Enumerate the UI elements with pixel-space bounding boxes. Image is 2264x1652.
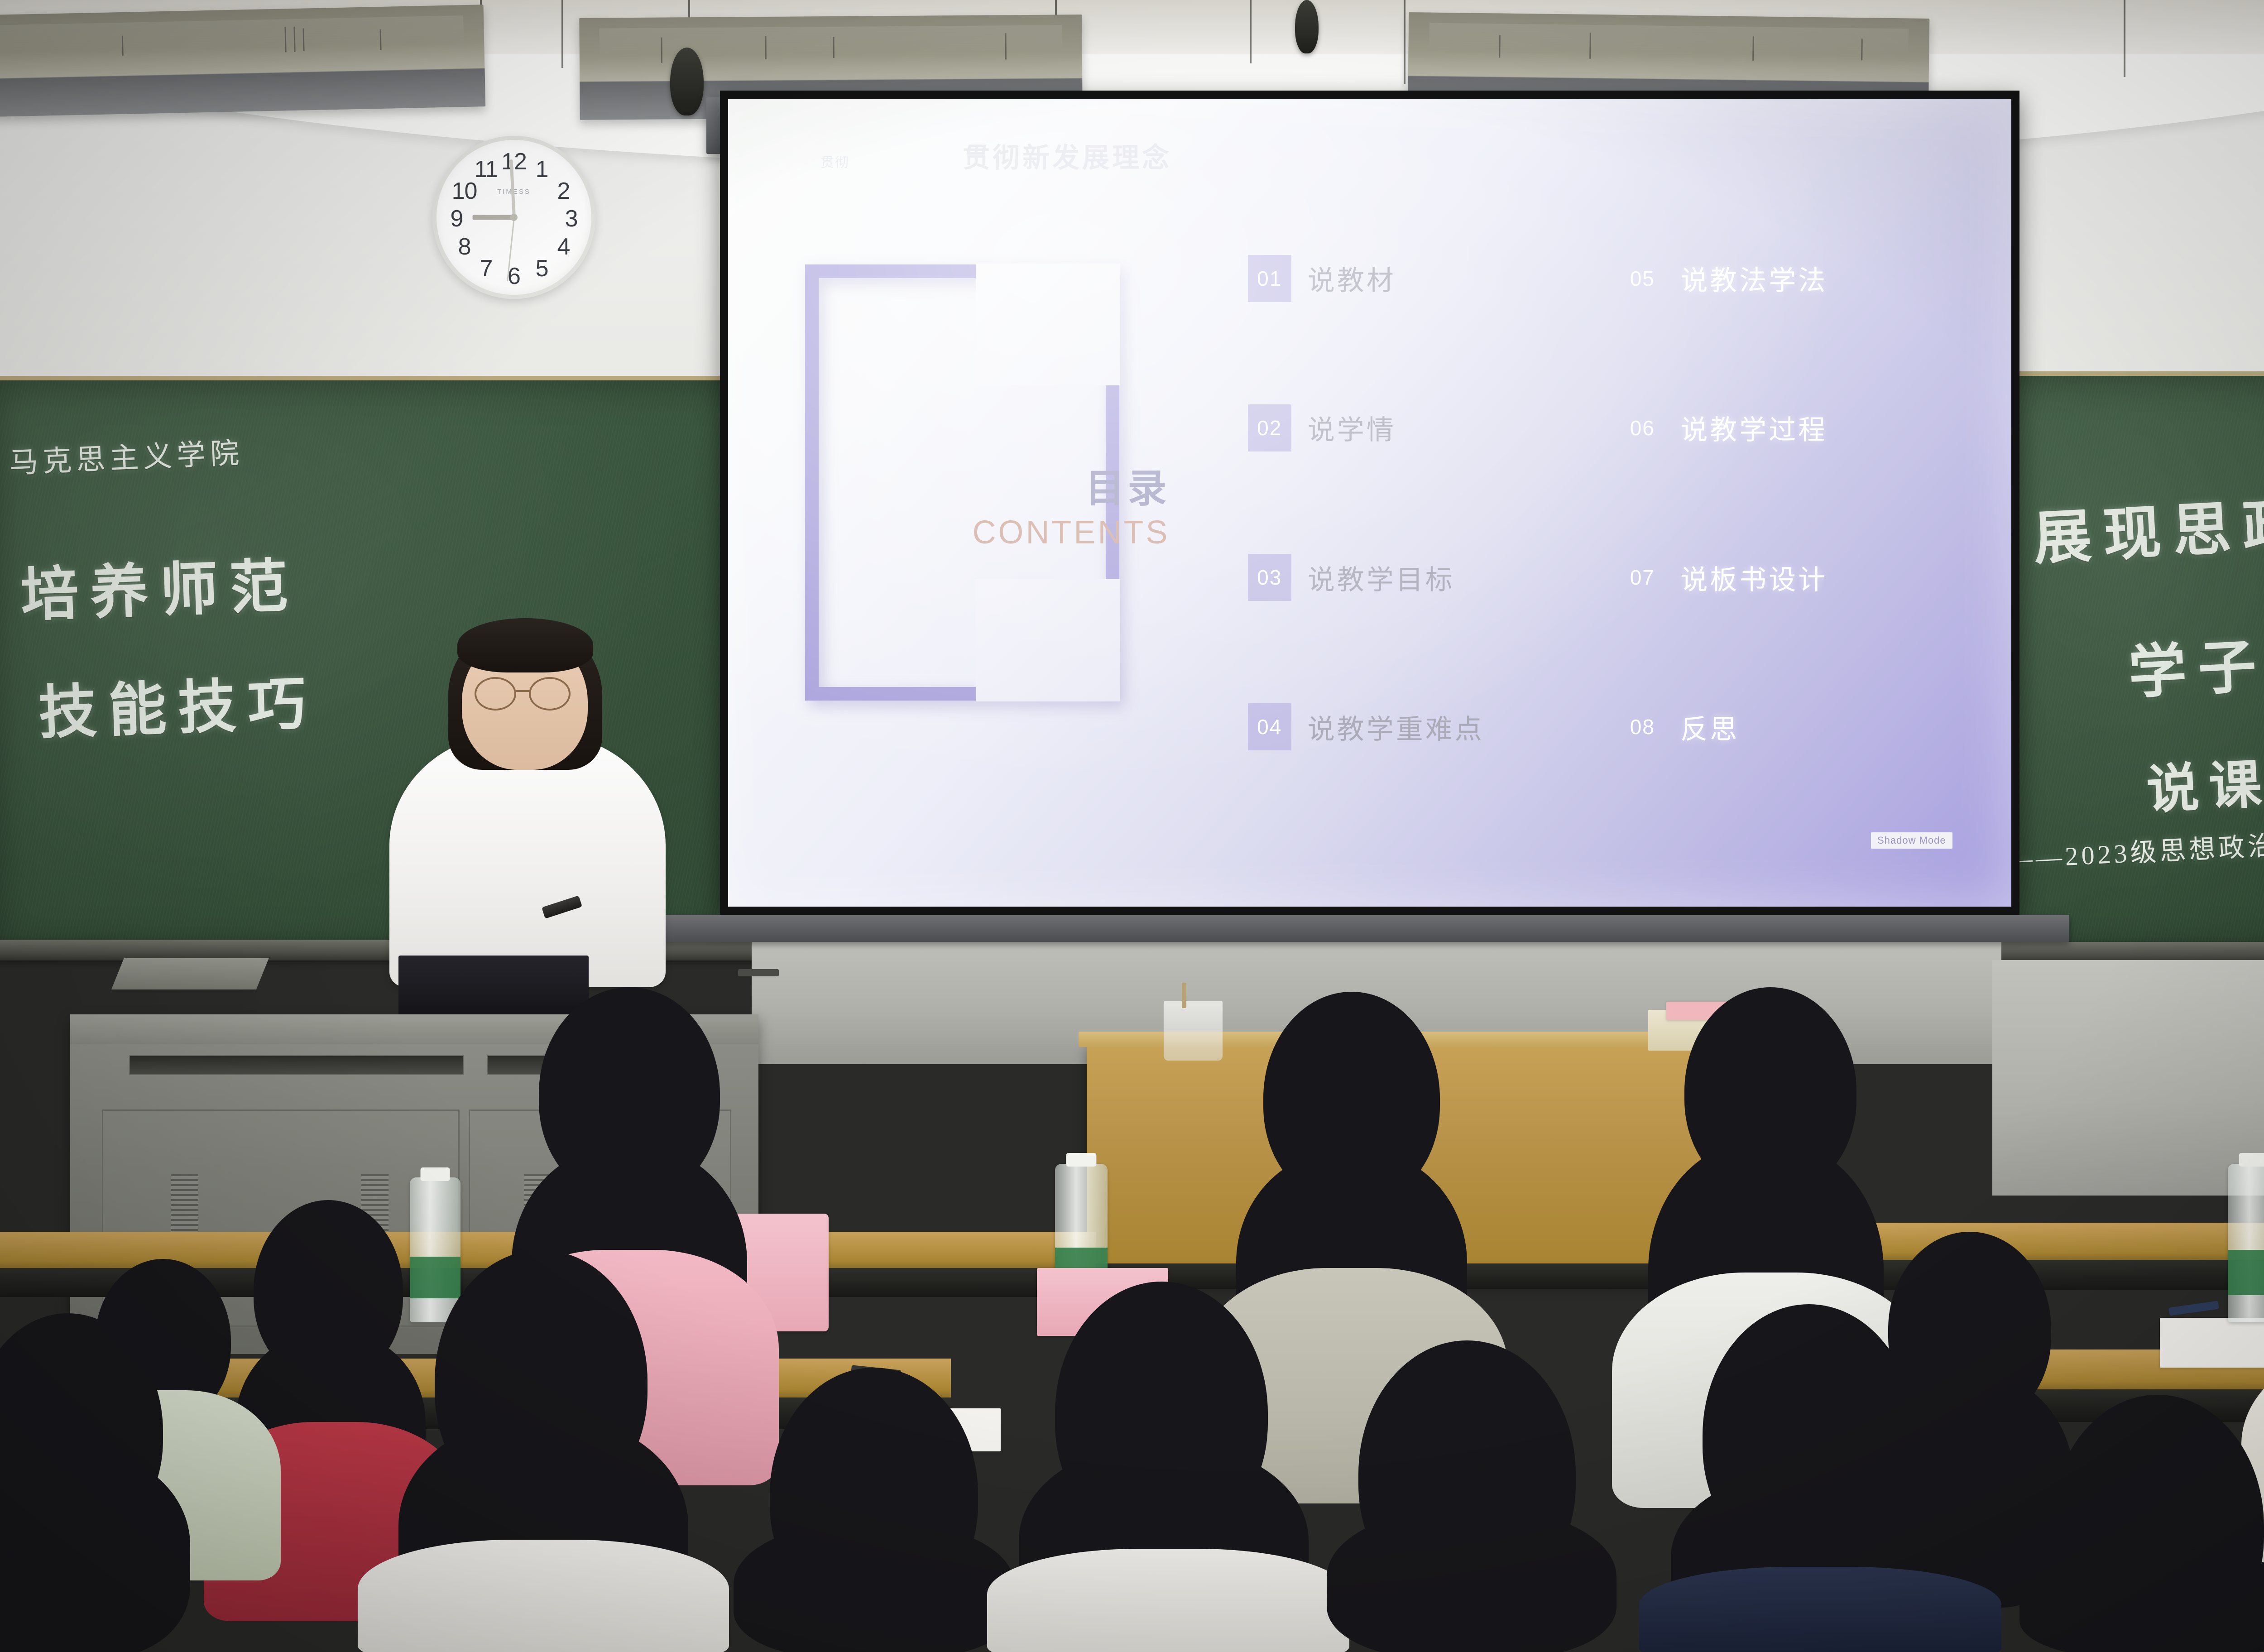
toc-item-label: 说教法学法 bbox=[1680, 259, 1828, 298]
clock-numeral: 8 bbox=[458, 233, 471, 260]
toc-item-label: 说教材 bbox=[1308, 259, 1396, 298]
hanging-microphone bbox=[1295, 0, 1319, 53]
pen-on-desk bbox=[2168, 1301, 2219, 1316]
presenter-glasses-bridge bbox=[516, 690, 530, 692]
chalk-text-right-line3: 说课比 bbox=[2144, 738, 2264, 823]
presenter-hair-top bbox=[457, 618, 593, 672]
clock-numeral: 3 bbox=[565, 205, 578, 232]
presentation-slide: 贯彻 贯彻新发展理念 目录 CONTENTS 01 说教材 05 bbox=[728, 99, 2011, 907]
audience-hair-front bbox=[1327, 1508, 1616, 1652]
cabinet-drawer-slot[interactable] bbox=[129, 1055, 464, 1075]
toc-item[interactable]: 06 说教学过程 bbox=[1621, 353, 1967, 503]
projection-screen: 贯彻 贯彻新发展理念 目录 CONTENTS 01 说教材 05 bbox=[720, 91, 2019, 915]
projector-screen-bottom-bar bbox=[648, 915, 2069, 942]
chalk-text-right-line2: 学子风 bbox=[2126, 615, 2264, 710]
chalk-text-right-line1: 展现思政 bbox=[2031, 477, 2264, 576]
bracket-notch-top bbox=[976, 264, 1120, 386]
chalk-text-left-line3: 技能技巧 bbox=[37, 656, 319, 749]
toc-item-number: 08 bbox=[1621, 703, 1664, 750]
clock-center-pin bbox=[510, 214, 518, 221]
audience-hair-front bbox=[734, 1522, 1014, 1652]
contents-title-en: CONTENTS bbox=[972, 514, 1170, 551]
hanging-microphone bbox=[670, 48, 704, 115]
audience-torso-front bbox=[987, 1549, 1349, 1652]
toc-item[interactable]: 02 说学情 bbox=[1248, 353, 1594, 503]
contents-title-cn: 目录 bbox=[972, 456, 1170, 513]
toc-item-number: 06 bbox=[1621, 404, 1664, 451]
light-hanging-wire bbox=[2124, 0, 2125, 77]
light-hanging-wire bbox=[1404, 0, 1405, 84]
clock-numeral: 5 bbox=[536, 255, 548, 282]
slide-header-title: 贯彻新发展理念 bbox=[963, 136, 1172, 175]
clock-numeral: 7 bbox=[480, 255, 492, 282]
toc-item-label: 说教学过程 bbox=[1680, 408, 1828, 447]
wall-panel-right bbox=[1992, 960, 2264, 1196]
bottle-label bbox=[2228, 1250, 2264, 1295]
toc-item-number: 02 bbox=[1248, 404, 1291, 451]
bottle-cap bbox=[421, 1167, 450, 1181]
toc-item-number: 07 bbox=[1621, 554, 1664, 601]
presenter-glasses-right-lens bbox=[529, 677, 571, 711]
cabinet-open-lid[interactable] bbox=[111, 958, 269, 989]
clock-numeral: 9 bbox=[450, 205, 463, 232]
contents-title-group: 目录 CONTENTS bbox=[972, 456, 1170, 551]
audience-hair-front bbox=[2019, 1549, 2264, 1652]
toc-item[interactable]: 07 说板书设计 bbox=[1621, 503, 1967, 652]
presenter-shirt bbox=[389, 734, 666, 987]
slide-header-small: 贯彻 bbox=[820, 151, 849, 171]
toc-item[interactable]: 08 反思 bbox=[1621, 652, 1967, 802]
bottle-label bbox=[410, 1257, 460, 1298]
toc-item[interactable]: 03 说教学目标 bbox=[1248, 503, 1594, 652]
bottle-cap bbox=[2239, 1153, 2264, 1167]
toc-item-label: 说教学重难点 bbox=[1308, 707, 1484, 747]
clock-numeral: 4 bbox=[557, 233, 570, 260]
clock-numeral: 2 bbox=[557, 178, 570, 205]
classroom-scene: TIMESS 12 1 2 3 4 5 6 7 8 9 10 11 马克思主义学… bbox=[0, 0, 2264, 1652]
clock-hour-hand bbox=[472, 215, 514, 220]
disposable-cup bbox=[1164, 1001, 1223, 1061]
wall-clock: TIMESS 12 1 2 3 4 5 6 7 8 9 10 11 bbox=[432, 136, 595, 299]
water-bottle bbox=[2228, 1164, 2264, 1322]
toc-item-label: 说学情 bbox=[1308, 408, 1396, 447]
toc-item-label: 说教学目标 bbox=[1308, 558, 1455, 597]
clock-numeral: 10 bbox=[452, 178, 477, 205]
toc-item[interactable]: 01 说教材 bbox=[1248, 204, 1594, 353]
audience-torso-front bbox=[358, 1540, 729, 1652]
pen-on-podium bbox=[1182, 983, 1186, 1008]
shadow-mode-badge: Shadow Mode bbox=[1871, 832, 1952, 849]
audience-torso-front bbox=[1639, 1567, 2001, 1652]
clock-numeral: 11 bbox=[474, 156, 498, 183]
slide-table-of-contents: 01 说教材 05 说教法学法 02 说学情 06 说教学过程 03 说教学 bbox=[1248, 204, 1967, 802]
slide-header: 贯彻 贯彻新发展理念 bbox=[820, 136, 1172, 175]
bottle-cap bbox=[1066, 1153, 1096, 1167]
toc-item-label: 说板书设计 bbox=[1680, 558, 1828, 597]
contents-bracket-decoration: 目录 CONTENTS bbox=[805, 264, 1119, 701]
presenter-skirt bbox=[398, 956, 589, 1019]
toc-item-number: 03 bbox=[1248, 554, 1291, 601]
toc-item-number: 05 bbox=[1621, 255, 1664, 302]
bracket-notch-bottom bbox=[976, 579, 1120, 701]
ceiling-light-panel bbox=[0, 5, 485, 117]
presenter-glasses-left-lens bbox=[475, 677, 516, 711]
toc-item[interactable]: 05 说教法学法 bbox=[1621, 204, 1967, 353]
remote-on-desk bbox=[738, 969, 779, 976]
toc-item-number: 04 bbox=[1248, 703, 1291, 750]
clock-numeral: 12 bbox=[501, 148, 527, 175]
water-bottle bbox=[410, 1177, 460, 1322]
notebook-page bbox=[2160, 1318, 2264, 1368]
toc-item[interactable]: 04 说教学重难点 bbox=[1248, 652, 1594, 802]
toc-item-number: 01 bbox=[1248, 255, 1291, 302]
light-hanging-wire bbox=[561, 0, 563, 68]
toc-item-label: 反思 bbox=[1680, 707, 1739, 747]
chalk-text-left-line2: 培养师范 bbox=[19, 538, 301, 632]
clock-numeral: 1 bbox=[536, 156, 548, 183]
light-hanging-wire bbox=[1250, 0, 1252, 63]
